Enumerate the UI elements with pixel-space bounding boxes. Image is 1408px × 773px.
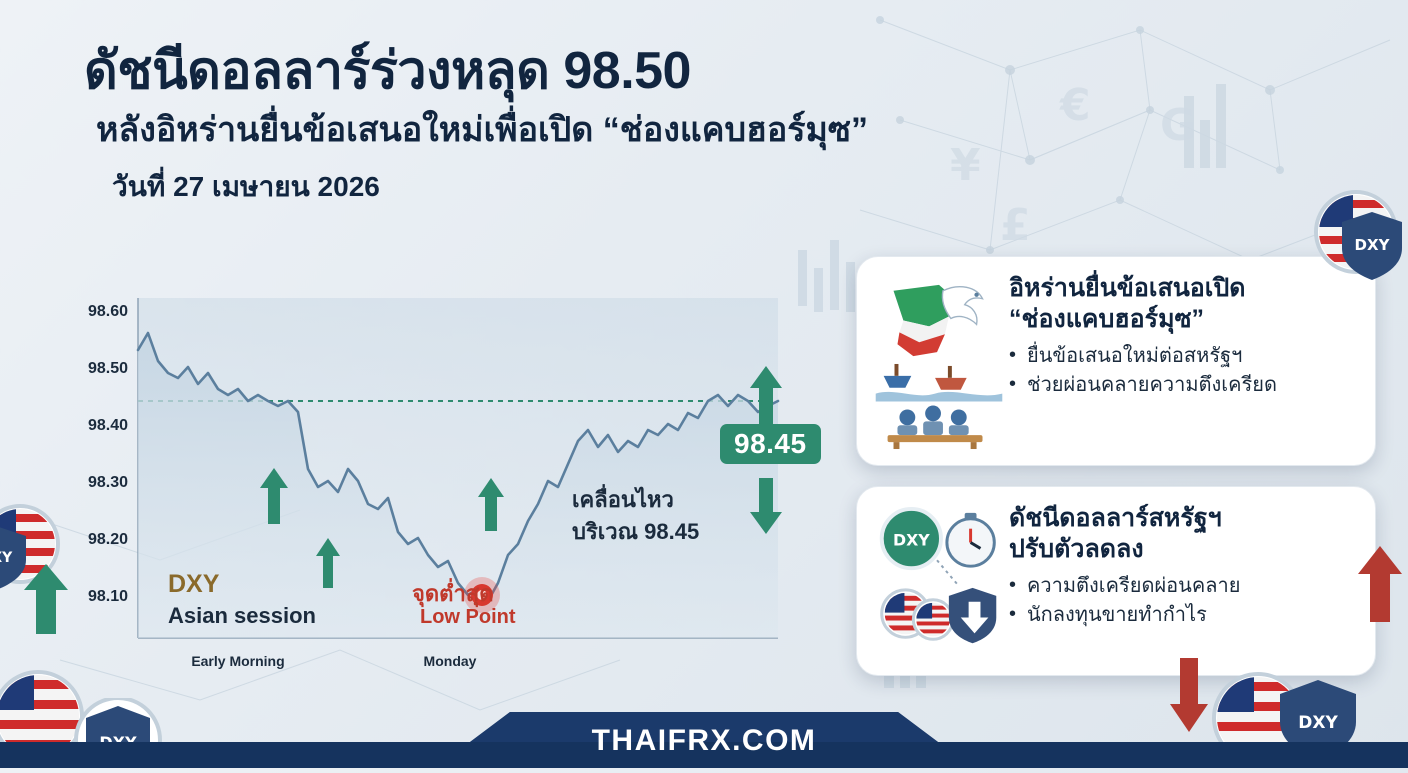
up-arrow-icon-right xyxy=(1356,542,1406,628)
headline-date: วันที่ 27 เมษายน 2026 xyxy=(112,165,984,209)
annotation-line2: บริเวณ 98.45 xyxy=(572,514,699,549)
current-price-badge: 98.45 xyxy=(720,424,821,464)
card-2-bullets: ความตึงเครียดผ่อนคลาย นักลงทุนขายทำกำไร xyxy=(1009,572,1357,630)
headline-block: ดัชนีดอลลาร์ร่วงหลุด 98.50 หลังอิหร่านยื… xyxy=(84,42,984,209)
svg-text:DXY: DXY xyxy=(0,550,13,566)
svg-text:98.10: 98.10 xyxy=(88,588,128,605)
x-axis-labels: Early Morning Monday xyxy=(191,653,476,669)
card-2-body: ดัชนีดอลลาร์สหรัฐฯ ปรับตัวลดลง ความตึงเค… xyxy=(1003,503,1357,630)
svg-text:G: G xyxy=(1160,100,1196,151)
footer-site-label: THAIFRX.COM xyxy=(0,724,1408,758)
card-1-bullets: ยื่นข้อเสนอใหม่ต่อสหรัฐฯ ช่วยผ่อนคลายควา… xyxy=(1009,342,1357,400)
card-1-title-line1: อิหร่านยื่นข้อเสนอเปิด xyxy=(1009,273,1357,304)
annotation-line1: เคลื่อนไหว xyxy=(572,482,674,517)
dxy-clock-shield-icon: DXY xyxy=(875,503,1003,659)
card-1-title-line2: “ช่องแคบฮอร์มุซ” xyxy=(1009,304,1357,335)
info-card-dxy: DXY xyxy=(856,486,1376,676)
svg-text:98.60: 98.60 xyxy=(88,303,128,320)
svg-text:Monday: Monday xyxy=(424,653,477,669)
footer: THAIFRX.COM xyxy=(0,710,1408,768)
svg-text:Early Morning: Early Morning xyxy=(191,653,284,669)
chart-watermark-session: Asian session xyxy=(168,603,316,629)
card-2-bullet-1: ความตึงเครียดผ่อนคลาย xyxy=(1009,572,1357,601)
svg-text:98.50: 98.50 xyxy=(88,360,128,377)
svg-text:€: € xyxy=(1059,80,1091,131)
info-card-iran: อิหร่านยื่นข้อเสนอเปิด “ช่องแคบฮอร์มุซ” … xyxy=(856,256,1376,466)
low-point-label-en: Low Point xyxy=(420,606,516,629)
svg-text:98.20: 98.20 xyxy=(88,531,128,548)
headline-line1: ดัชนีดอลลาร์ร่วงหลุด 98.50 xyxy=(84,42,984,100)
card-1-bullet-2: ช่วยผ่อนคลายความตึงเครียด xyxy=(1009,371,1357,400)
svg-text:DXY: DXY xyxy=(893,530,930,549)
card-2-title-line1: ดัชนีดอลลาร์สหรัฐฯ xyxy=(1009,503,1357,534)
up-arrow-icon-left xyxy=(22,560,72,640)
svg-text:DXY: DXY xyxy=(1355,236,1391,254)
card-2-title-line2: ปรับตัวลดลง xyxy=(1009,534,1357,565)
svg-text:£: £ xyxy=(1000,200,1031,251)
card-1-bullet-1: ยื่นข้อเสนอใหม่ต่อสหรัฐฯ xyxy=(1009,342,1357,371)
iran-map-dove-negotiation-icon xyxy=(875,273,1003,449)
dxy-chart: 98.60 98.50 98.40 98.30 98.20 98.10 xyxy=(60,288,840,688)
svg-text:98.40: 98.40 xyxy=(88,417,128,434)
chart-watermark-dxy: DXY xyxy=(168,570,219,599)
card-1-body: อิหร่านยื่นข้อเสนอเปิด “ช่องแคบฮอร์มุซ” … xyxy=(1003,273,1357,400)
svg-text:98.30: 98.30 xyxy=(88,474,128,491)
headline-line2: หลังอิหร่านยื่นข้อเสนอใหม่เพื่อเปิด “ช่อ… xyxy=(96,110,984,151)
y-axis-labels: 98.60 98.50 98.40 98.30 98.20 98.10 xyxy=(88,303,128,605)
dxy-shield-badge-topright: DXY xyxy=(1310,186,1408,296)
card-2-bullet-2: นักลงทุนขายทำกำไร xyxy=(1009,601,1357,630)
